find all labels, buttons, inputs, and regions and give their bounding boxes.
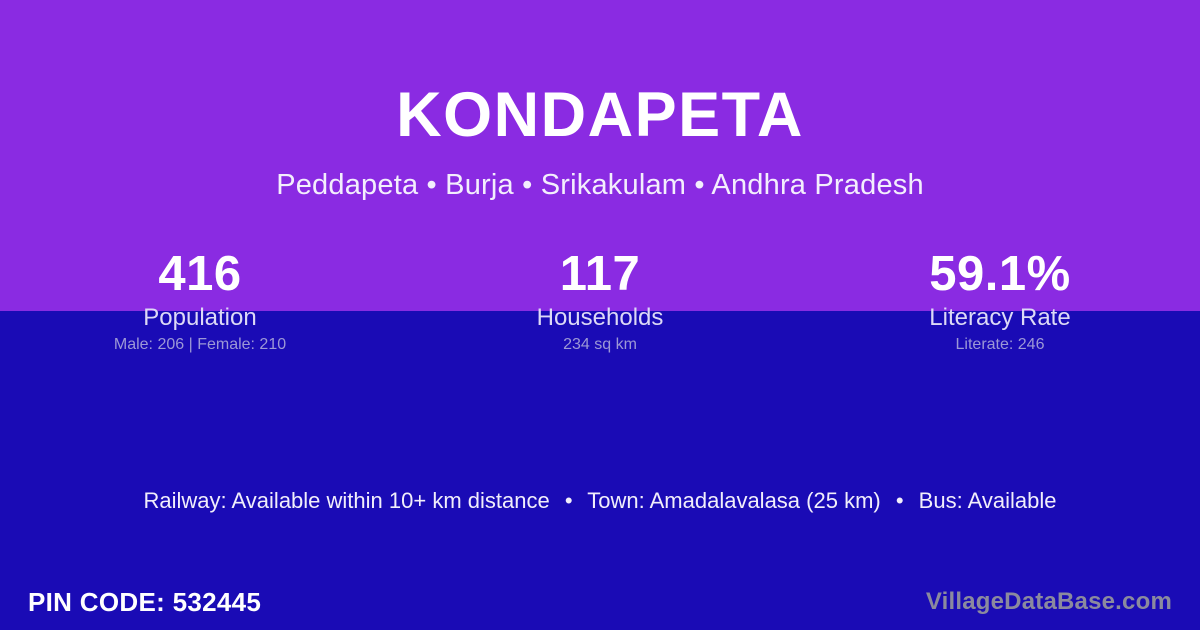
stat-value: 117	[400, 246, 800, 302]
stat-sublabel: Male: 206 | Female: 210	[0, 333, 400, 357]
stats-row: 416 Population Male: 206 | Female: 210 1…	[0, 246, 1200, 357]
pin-code: PIN CODE: 532445	[0, 587, 261, 618]
stat-label: Literacy Rate	[800, 302, 1200, 333]
stat-value: 59.1%	[800, 246, 1200, 302]
infrastructure-line: Railway: Available within 10+ km distanc…	[0, 487, 1200, 515]
bus-info: Bus: Available	[919, 488, 1057, 513]
page-title: KONDAPETA	[0, 0, 1200, 147]
infra-separator: •	[556, 488, 582, 513]
railway-info: Railway: Available within 10+ km distanc…	[144, 488, 550, 513]
town-info: Town: Amadalavalasa (25 km)	[587, 488, 880, 513]
card-footer: PIN CODE: 532445 VillageDataBase.com	[0, 574, 1200, 630]
stat-sublabel: 234 sq km	[400, 333, 800, 357]
stat-households: 117 Households 234 sq km	[400, 246, 800, 357]
stat-sublabel: Literate: 246	[800, 333, 1200, 357]
village-info-card: KONDAPETA Peddapeta • Burja • Srikakulam…	[0, 0, 1200, 630]
stat-value: 416	[0, 246, 400, 302]
card-header: KONDAPETA Peddapeta • Burja • Srikakulam…	[0, 0, 1200, 202]
stat-label: Population	[0, 302, 400, 333]
stat-label: Households	[400, 302, 800, 333]
stat-population: 416 Population Male: 206 | Female: 210	[0, 246, 400, 357]
stat-literacy-rate: 59.1% Literacy Rate Literate: 246	[800, 246, 1200, 357]
site-watermark: VillageDataBase.com	[926, 588, 1200, 616]
breadcrumb: Peddapeta • Burja • Srikakulam • Andhra …	[0, 147, 1200, 202]
infra-separator: •	[887, 488, 913, 513]
